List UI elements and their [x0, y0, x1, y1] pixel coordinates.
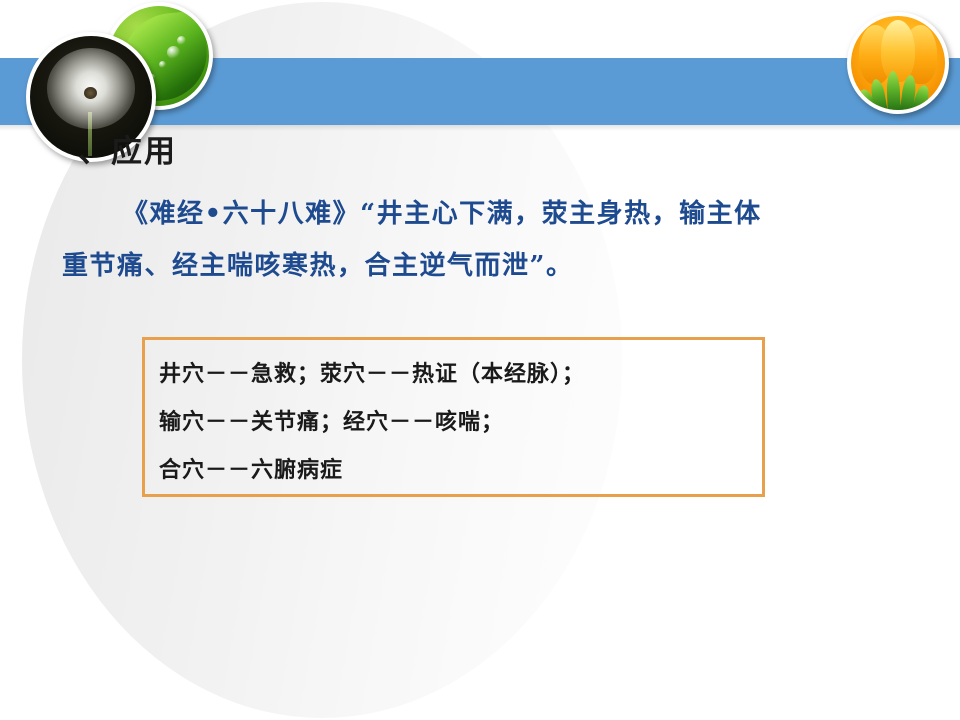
quotation-line-1-text: 《难经•六十八难》“井主心下满，荥主身热，输主体: [122, 199, 762, 229]
tulip-background: [851, 16, 945, 110]
quotation-paragraph: 《难经•六十八难》“井主心下满，荥主身热，输主体 重节痛、经主喘咳寒热，合主逆气…: [62, 188, 892, 292]
grass-blade-shape: [886, 71, 901, 114]
dew-drop-icon: [159, 61, 166, 68]
quotation-line-2: 重节痛、经主喘咳寒热，合主逆气而泄”。: [62, 240, 892, 292]
slide-canvas: 、应用 《难经•六十八难》“井主心下满，荥主身热，输主体 重节痛、经主喘咳寒热，…: [0, 0, 960, 720]
summary-box-content: 井穴－－急救；荥穴－－热证（本经脉）； 输穴－－关节痛；经穴－－咳喘； 合穴－－…: [159, 350, 752, 494]
summary-line-3: 合穴－－六腑病症: [159, 446, 752, 494]
tulip-photo: [847, 12, 949, 114]
summary-box: 井穴－－急救；荥穴－－热证（本经脉）； 输穴－－关节痛；经穴－－咳喘； 合穴－－…: [142, 337, 765, 497]
quotation-line-1: 《难经•六十八难》“井主心下满，荥主身热，输主体: [62, 188, 892, 240]
summary-line-2: 输穴－－关节痛；经穴－－咳喘；: [159, 398, 752, 446]
dew-drop-icon: [167, 46, 180, 59]
dew-drop-icon: [177, 36, 186, 45]
tulip-leaves-group: [851, 55, 945, 110]
summary-line-1: 井穴－－急救；荥穴－－热证（本经脉）；: [159, 350, 752, 398]
slide-title: 、应用: [78, 126, 177, 171]
